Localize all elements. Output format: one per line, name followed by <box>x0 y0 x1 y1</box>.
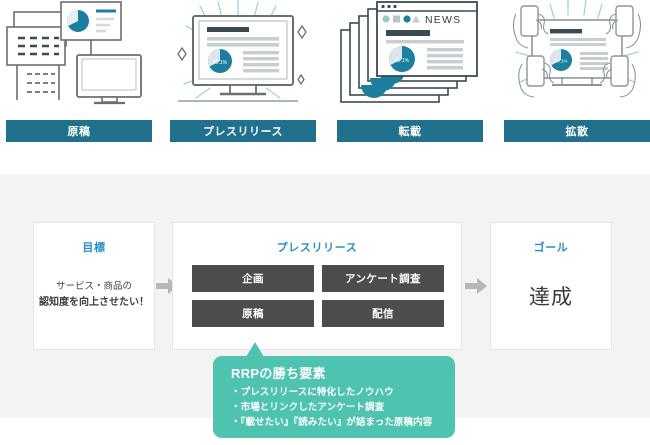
process-step-2: NEWS 80.1% 転載 <box>337 0 483 146</box>
goal-card-line2: 認知度を向上させたい！ <box>34 295 154 311</box>
tile-enquete[interactable]: アンケート調査 <box>322 265 444 292</box>
tile-haishin[interactable]: 配信 <box>322 300 444 327</box>
callout-tail-icon <box>246 342 264 357</box>
goal-card: 目標 サービス・商品の 認知度を向上させたい！ <box>33 222 155 350</box>
step-label-0: 原稿 <box>6 120 152 142</box>
tile-genkou[interactable]: 原稿 <box>192 300 314 327</box>
step-label-3: 拡散 <box>504 120 650 142</box>
goal-achieved-card-title: ゴール <box>491 239 611 255</box>
tile-kikaku[interactable]: 企画 <box>192 265 314 292</box>
infographic-page: 原稿 <box>0 0 650 445</box>
documents-monitor-illustration <box>6 0 152 112</box>
goal-card-line1: サービス・商品の <box>34 279 154 295</box>
shining-monitor-illustration: 80.1% <box>170 0 316 112</box>
goal-card-body: サービス・商品の 認知度を向上させたい！ <box>34 279 154 311</box>
svg-text:80.1%: 80.1% <box>555 59 568 64</box>
right-arrow-icon-2 <box>465 278 487 294</box>
press-release-card-title: プレスリリース <box>173 239 461 255</box>
step-label-2: 転載 <box>337 120 483 142</box>
rrp-callout: RRPの勝ち要素 ・プレスリリースに特化したノウハウ ・市場とリンクしたアンケー… <box>213 356 455 438</box>
step-label-1: プレスリリース <box>170 120 316 142</box>
press-release-card: プレスリリース 企画 アンケート調査 原稿 配信 <box>172 222 462 350</box>
process-step-3: 80.1% <box>504 0 650 146</box>
press-release-tiles: 企画 アンケート調査 原稿 配信 <box>192 265 444 327</box>
process-step-0: 原稿 <box>6 0 152 146</box>
stacked-news-windows-illustration: NEWS 80.1% <box>337 0 483 112</box>
callout-list-item-0: ・プレスリリースに特化したノウハウ <box>231 385 455 400</box>
callout-list-item-1: ・市場とリンクしたアンケート調査 <box>231 400 455 415</box>
goal-achieved-card-body: 達成 <box>491 281 611 311</box>
pie-percent-label: 80.1% <box>213 60 228 66</box>
callout-list-item-2: ・『載せたい』『読みたい』が詰まった原稿内容 <box>231 415 455 430</box>
goal-card-title: 目標 <box>34 239 154 255</box>
svg-text:80.1%: 80.1% <box>395 58 410 64</box>
callout-list: ・プレスリリースに特化したノウハウ ・市場とリンクしたアンケート調査 ・『載せた… <box>231 385 455 430</box>
goal-achieved-card: ゴール 達成 <box>490 222 612 350</box>
callout-title: RRPの勝ち要素 <box>231 365 455 383</box>
flow-diagram: 目標 サービス・商品の 認知度を向上させたい！ プレスリリース 企画 アンケート… <box>0 222 650 350</box>
process-steps-strip: 原稿 <box>0 0 650 174</box>
news-brand-label: NEWS <box>425 14 461 26</box>
smartphones-sharing-illustration: 80.1% <box>504 0 650 112</box>
process-step-1: 80.1% プレスリリース <box>170 0 316 146</box>
